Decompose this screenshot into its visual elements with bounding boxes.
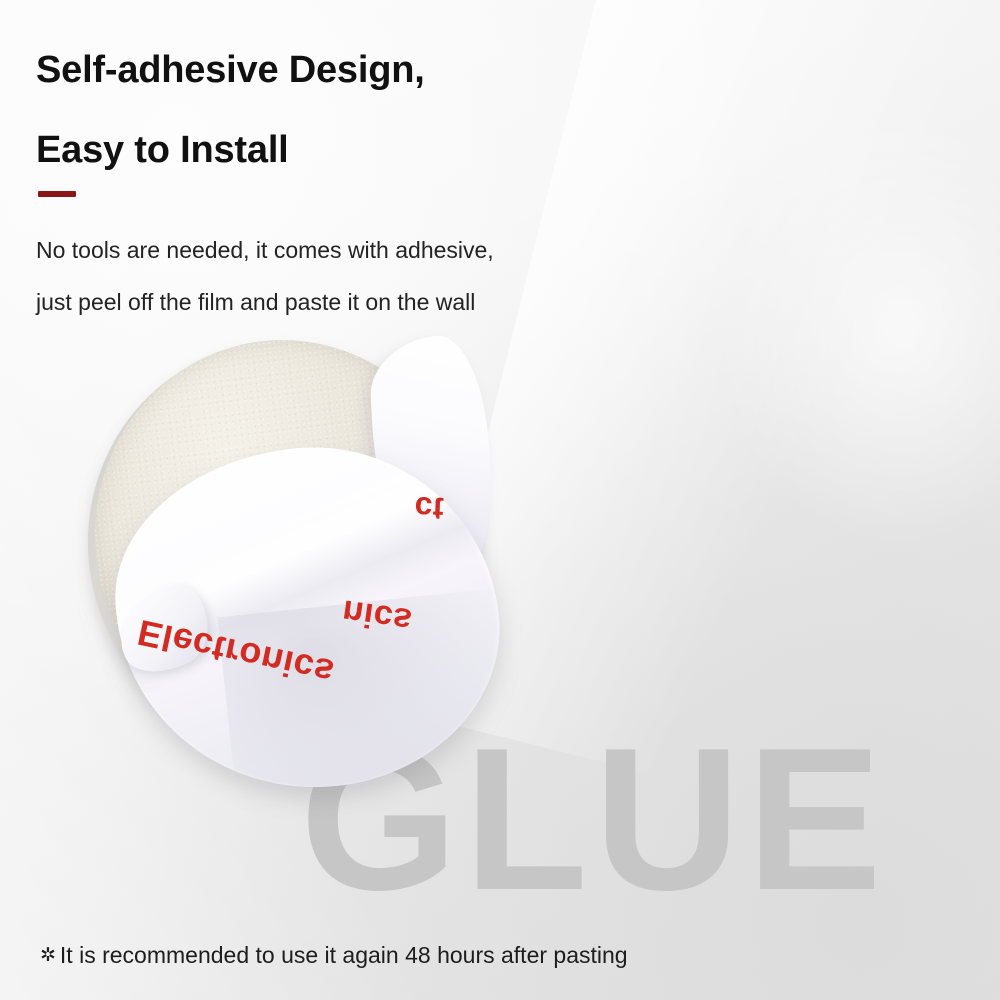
product-photo: Electronics Electronics nics ct [78, 330, 498, 800]
description-text: No tools are needed, it comes with adhes… [36, 224, 656, 328]
product-feature-banner: GLUE Self-adhesive Design, Easy to Insta… [0, 0, 1000, 1000]
footnote: ✲It is recommended to use it again 48 ho… [40, 942, 628, 969]
page-title: Self-adhesive Design, Easy to Install [36, 30, 676, 190]
liner-print-ct: ct [414, 489, 445, 527]
asterisk-icon: ✲ [40, 945, 56, 966]
accent-divider [38, 191, 76, 197]
footnote-text: It is recommended to use it again 48 hou… [60, 942, 628, 968]
background-sheen-glow [720, 120, 1000, 540]
